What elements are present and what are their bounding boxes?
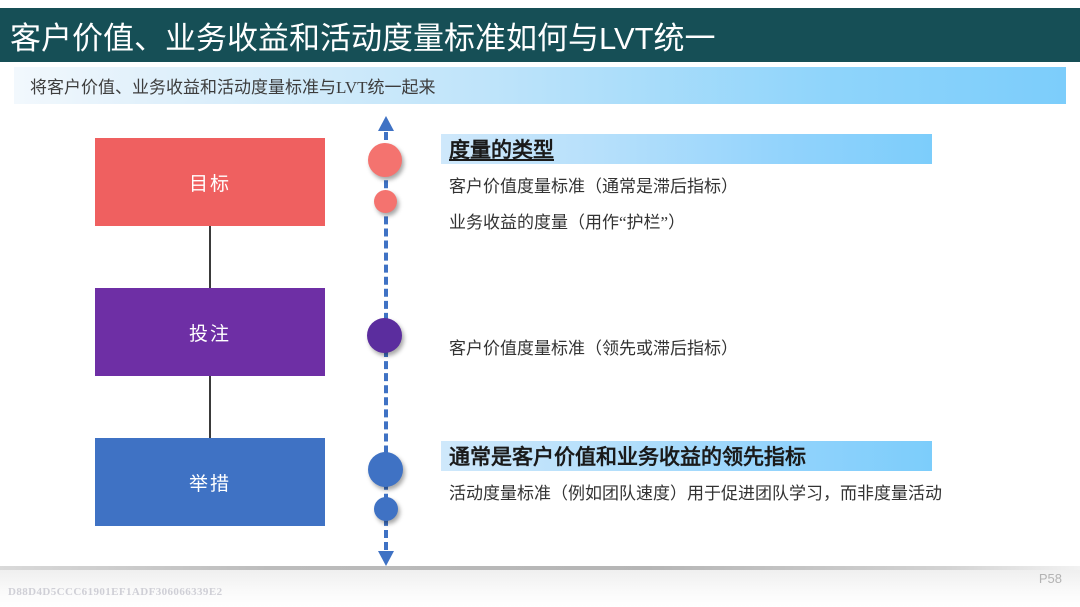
node-box-goal: 目标 <box>95 138 325 226</box>
panel-metric-types: 度量的类型 客户价值度量标准（通常是滞后指标） 业务收益的度量（用作“护栏”） <box>441 134 932 235</box>
node-label-action: 举措 <box>189 469 231 496</box>
panel-bet-metrics: 客户价值度量标准（领先或滞后指标） <box>441 334 738 359</box>
page-title: 客户价值、业务收益和活动度量标准如何与LVT统一 <box>0 13 716 58</box>
panel-heading-bar-leading-indicators: 通常是客户价值和业务收益的领先指标 <box>441 441 932 471</box>
panel-heading-leading-indicators: 通常是客户价值和业务收益的领先指标 <box>441 441 806 471</box>
node-box-action: 举措 <box>95 438 325 526</box>
subtitle-text: 将客户价值、业务收益和活动度量标准与LVT统一起来 <box>14 73 435 98</box>
slide-title-bar: 客户价值、业务收益和活动度量标准如何与LVT统一 <box>0 8 1080 62</box>
dot-bet-icon <box>367 318 402 353</box>
arrow-down-icon <box>378 551 394 566</box>
dot-goal-large-icon <box>368 143 402 177</box>
node-label-bet: 投注 <box>189 319 231 346</box>
dot-goal-small-icon <box>374 190 397 213</box>
panel-line-customer-value-leading-lagging: 客户价值度量标准（领先或滞后指标） <box>441 334 738 359</box>
page-number: P58 <box>1039 571 1062 586</box>
dot-action-large-icon <box>368 452 403 487</box>
dot-action-small-icon <box>374 497 398 521</box>
arrow-up-icon <box>378 116 394 131</box>
panel-leading-indicators: 通常是客户价值和业务收益的领先指标 活动度量标准（例如团队速度）用于促进团队学习… <box>441 441 979 507</box>
node-box-bet: 投注 <box>95 288 325 376</box>
slide-subtitle-bar: 将客户价值、业务收益和活动度量标准与LVT统一起来 <box>14 67 1066 104</box>
connector-goal-bet <box>95 226 325 288</box>
connector-bet-action <box>95 376 325 438</box>
panel-line-activity-metrics: 活动度量标准（例如团队速度）用于促进团队学习，而非度量活动 <box>441 482 979 507</box>
node-label-goal: 目标 <box>189 169 231 196</box>
panel-heading-bar-metric-types: 度量的类型 <box>441 134 932 164</box>
node-stack: 目标 投注 举措 <box>95 138 325 526</box>
watermark-text: D88D4D5CCC61901EF1ADF306066339E2 <box>8 586 222 598</box>
panel-heading-metric-types: 度量的类型 <box>441 134 554 164</box>
panel-line-customer-value-lagging: 客户价值度量标准（通常是滞后指标） <box>441 175 932 200</box>
panel-line-business-benefit-guardrail: 业务收益的度量（用作“护栏”） <box>441 211 932 236</box>
